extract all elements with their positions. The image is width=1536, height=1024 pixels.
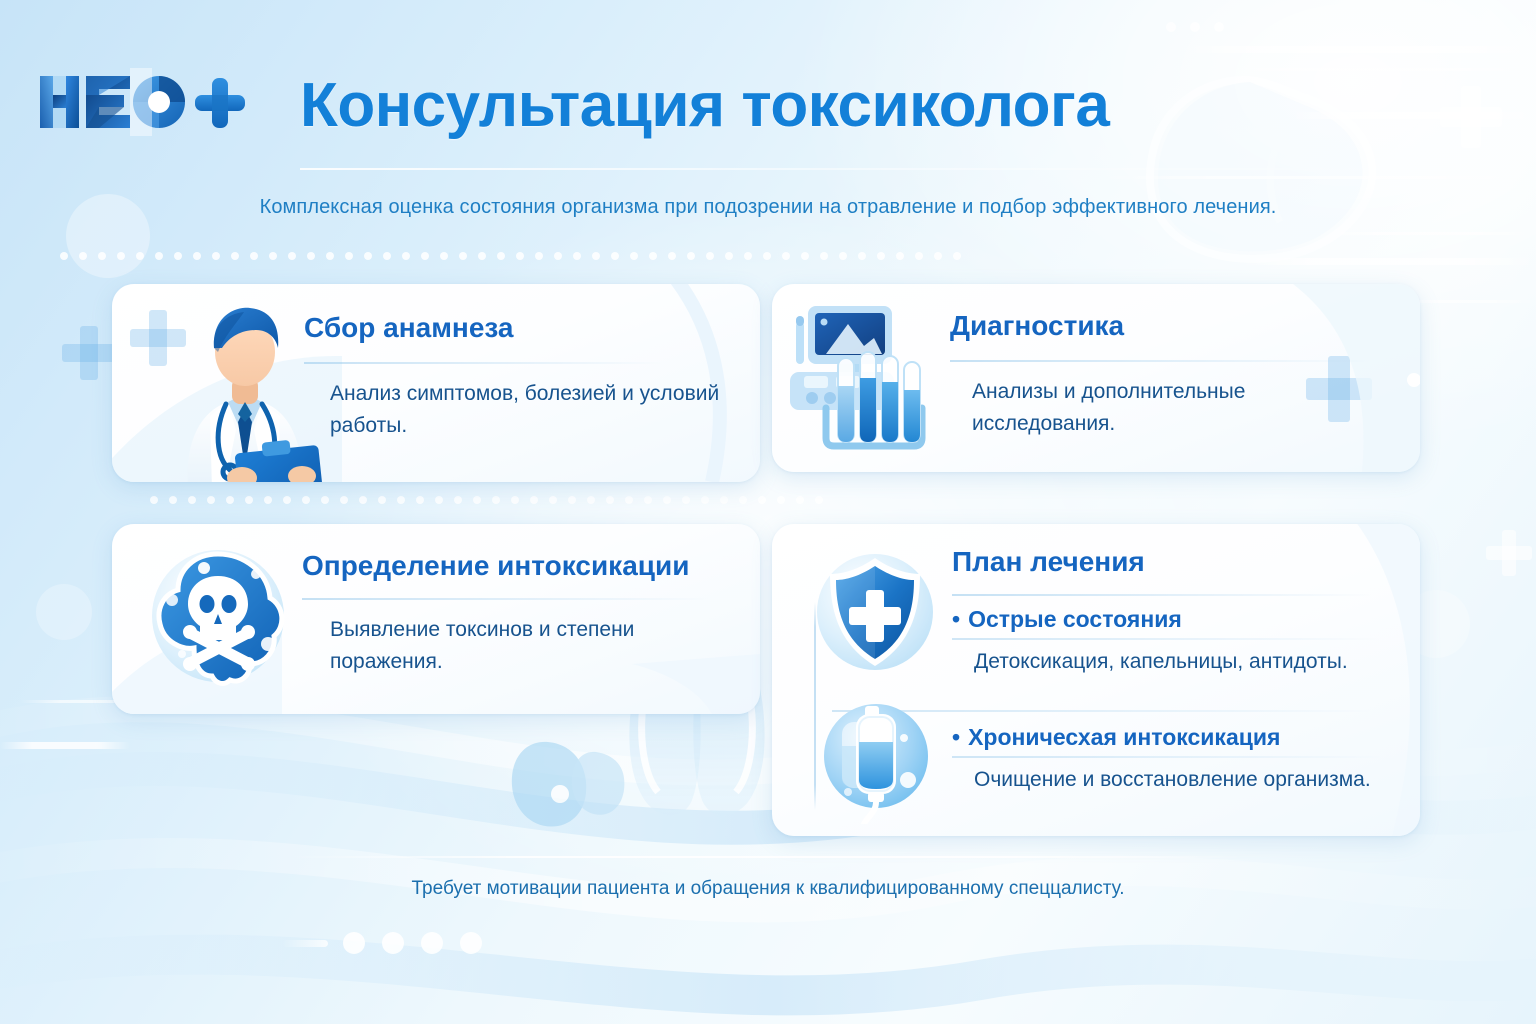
card-treatment-plan-divider: [952, 594, 1372, 596]
card-treatment-plan-title: План лечения: [952, 546, 1145, 578]
decor-dot-row: [150, 496, 823, 504]
plan-item-chronic-desc: Очищение и восстановление организма.: [974, 768, 1382, 792]
lab-equipment-icon: [786, 300, 946, 460]
cross-icon: [62, 326, 116, 380]
infographic-canvas: Консультация токсиколога Комплексная оце…: [0, 0, 1536, 1024]
decor-dot-row: [60, 252, 961, 260]
footer-divider: [290, 856, 1246, 858]
bullet-icon: •: [952, 724, 960, 750]
card-diagnostics-title: Диагностика: [950, 310, 1124, 342]
card-treatment-plan[interactable]: План лечения •Острые состояния Детоксика…: [772, 524, 1420, 836]
plan-item-acute[interactable]: •Острые состояния Детоксикация, капельни…: [952, 606, 1382, 674]
page-title: Консультация токсиколога: [300, 70, 1109, 141]
kidney-decoration: [512, 742, 625, 827]
header: Консультация токсиколога Комплексная оце…: [0, 0, 1536, 250]
card-anamnesis-title: Сбор анамнеза: [304, 312, 514, 344]
page-subtitle: Комплексная оценка состояния организма п…: [0, 196, 1536, 219]
plan-item-chronic-label: •Хроничесхая интоксикация: [952, 724, 1382, 751]
plan-item-acute-text: Острые состояния: [968, 606, 1182, 632]
plan-item-acute-divider: [952, 638, 1382, 640]
plan-item-chronic-text: Хроничесхая интоксикация: [968, 724, 1280, 750]
card-anamnesis-divider: [304, 362, 664, 364]
plan-item-chronic-divider: [952, 756, 1382, 758]
poison-skull-icon: [138, 538, 298, 698]
card-diagnostics[interactable]: Диагностика Анализы и дополнительные исс…: [772, 284, 1420, 472]
card-diagnostics-divider: [950, 360, 1370, 362]
iv-drip-icon: [818, 694, 938, 824]
plan-item-chronic[interactable]: •Хроничесхая интоксикация Очищение и вос…: [952, 724, 1382, 792]
card-intoxication-title: Определение интоксикации: [302, 550, 689, 582]
cross-icon: [1486, 530, 1532, 576]
card-anamnesis-body: Анализ симптомов, болезией и условий раб…: [330, 378, 730, 442]
plan-item-acute-label: •Острые состояния: [952, 606, 1382, 633]
decor-streak: [1240, 258, 1536, 265]
bullet-icon: •: [952, 606, 960, 632]
card-intoxication[interactable]: Определение интоксикации Выявление токси…: [112, 524, 760, 714]
card-diagnostics-body: Анализы и дополнительные исследования.: [972, 376, 1392, 440]
footer-note: Требует мотивации пациента и обращения к…: [0, 878, 1536, 900]
decor-streak: [0, 742, 130, 749]
doctor-illustration: [150, 290, 330, 482]
footer-dot-row: [282, 932, 482, 954]
card-intoxication-divider: [302, 598, 712, 600]
brand-logo: [34, 62, 284, 142]
shield-cross-icon: [808, 546, 942, 680]
card-intoxication-body: Выявление токсинов и степени поражения.: [330, 614, 720, 678]
plan-item-acute-desc: Детоксикация, капельницы, антидоты.: [974, 650, 1382, 674]
header-divider: [300, 168, 1480, 170]
card-anamnesis[interactable]: Сбор анамнеза Анализ симптомов, болезией…: [112, 284, 760, 482]
